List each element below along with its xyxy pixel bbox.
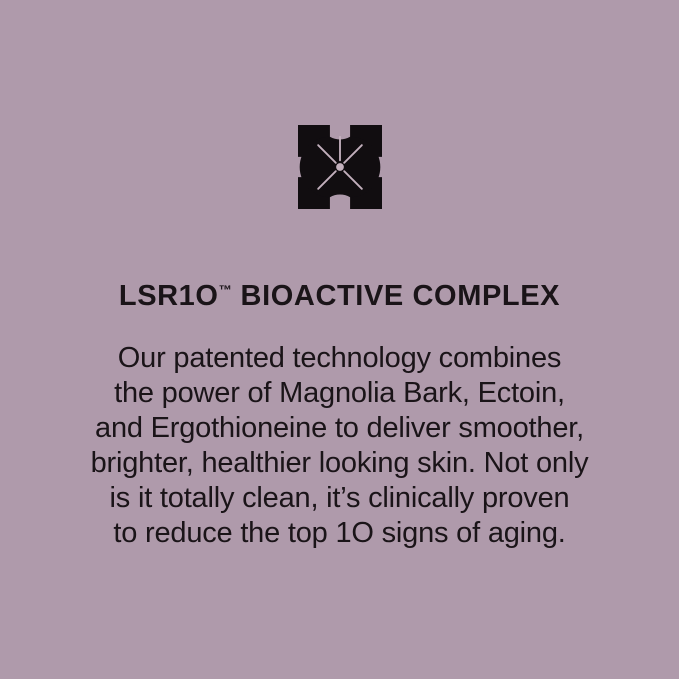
description-line: to reduce the top 1O signs of aging.: [0, 516, 679, 551]
description-line: and Ergothioneine to deliver smoother,: [0, 411, 679, 446]
description-line: the power of Magnolia Bark, Ectoin,: [0, 376, 679, 411]
headline-suffix: BIOACTIVE COMPLEX: [232, 280, 560, 312]
four-petal-clover-logo: [298, 125, 382, 209]
headline-product-name: LSR1O: [119, 280, 219, 312]
product-description: Our patented technology combines the pow…: [0, 341, 679, 551]
description-line: Our patented technology combines: [0, 341, 679, 376]
trademark-symbol: ™: [219, 283, 232, 298]
center-dot: [336, 163, 344, 171]
description-line: is it totally clean, it’s clinically pro…: [0, 481, 679, 516]
description-line: brighter, healthier looking skin. Not on…: [0, 446, 679, 481]
product-claim-card: LSR1O™ BIOACTIVE COMPLEX Our patented te…: [0, 0, 679, 679]
page-title: LSR1O™ BIOACTIVE COMPLEX: [0, 281, 679, 311]
